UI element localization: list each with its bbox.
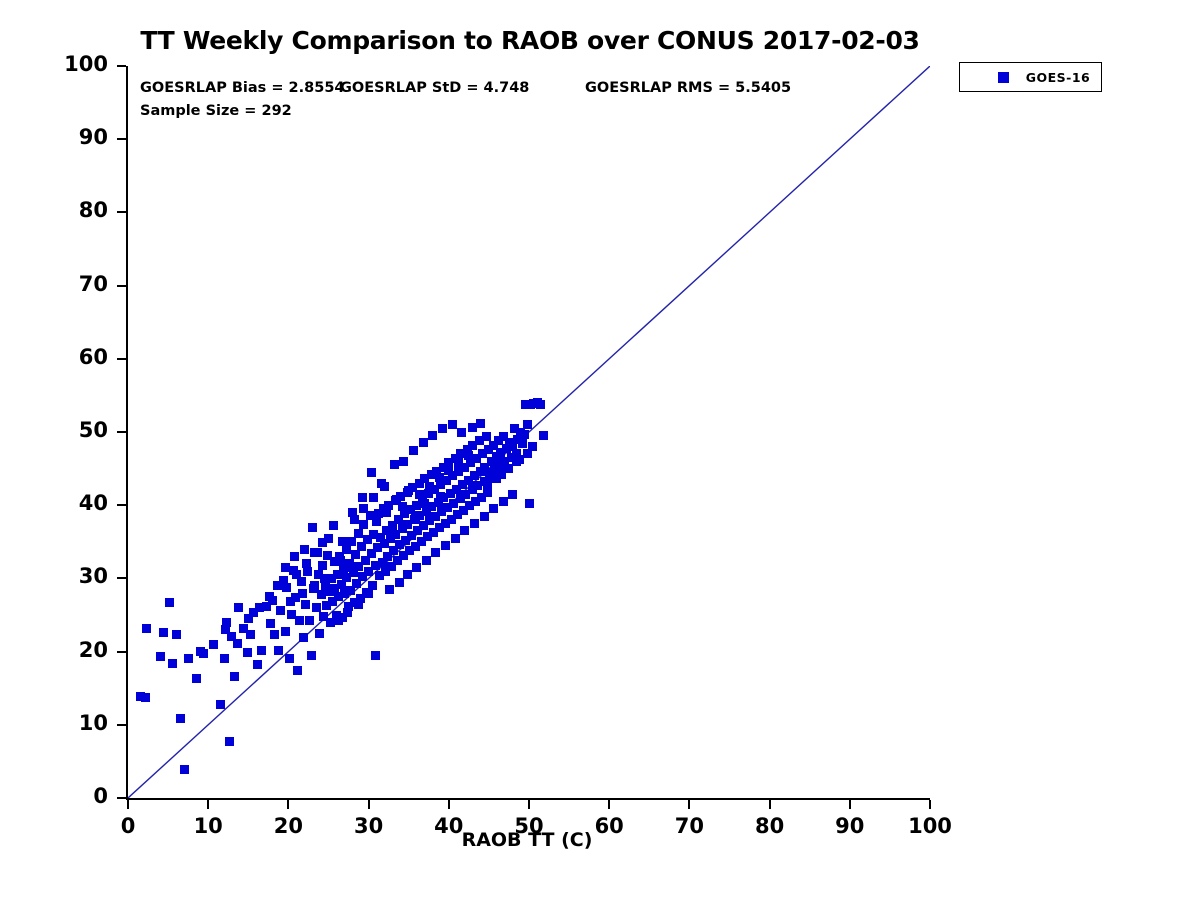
data-point bbox=[343, 608, 352, 617]
data-point bbox=[286, 597, 295, 606]
data-point bbox=[273, 581, 282, 590]
data-point bbox=[302, 559, 311, 568]
data-point bbox=[230, 672, 239, 681]
data-point bbox=[512, 457, 521, 466]
x-tick-mark bbox=[448, 800, 450, 809]
data-point bbox=[168, 659, 177, 668]
data-point bbox=[359, 520, 368, 529]
data-point bbox=[354, 529, 363, 538]
data-point bbox=[347, 537, 356, 546]
data-point bbox=[310, 581, 319, 590]
data-point bbox=[404, 486, 413, 495]
data-point bbox=[216, 700, 225, 709]
data-point bbox=[274, 646, 283, 655]
x-tick-mark bbox=[287, 800, 289, 809]
data-point bbox=[436, 492, 445, 501]
data-point bbox=[403, 570, 412, 579]
annotation-bias: GOESRLAP Bias = 2.8554 bbox=[140, 80, 345, 96]
y-tick-mark bbox=[117, 285, 126, 287]
y-tick-mark bbox=[117, 138, 126, 140]
data-point bbox=[359, 504, 368, 513]
data-point bbox=[457, 428, 466, 437]
data-point bbox=[431, 548, 440, 557]
y-tick-mark bbox=[117, 577, 126, 579]
data-point bbox=[483, 488, 492, 497]
data-point bbox=[409, 446, 418, 455]
data-point bbox=[508, 490, 517, 499]
data-point bbox=[257, 646, 266, 655]
data-point bbox=[398, 502, 407, 511]
data-point bbox=[176, 714, 185, 723]
data-point bbox=[266, 619, 275, 628]
y-tick-label: 90 bbox=[8, 125, 108, 149]
data-point bbox=[385, 585, 394, 594]
data-point bbox=[539, 431, 548, 440]
data-point bbox=[520, 430, 529, 439]
data-point bbox=[221, 625, 230, 634]
data-point bbox=[350, 515, 359, 524]
data-point bbox=[371, 651, 380, 660]
x-tick-mark bbox=[849, 800, 851, 809]
legend-label-goes-16: GOES-16 bbox=[1022, 70, 1094, 85]
data-point bbox=[454, 458, 463, 467]
data-point bbox=[329, 521, 338, 530]
data-point bbox=[380, 482, 389, 491]
data-point bbox=[460, 526, 469, 535]
annotation-sample-size: Sample Size = 292 bbox=[140, 103, 292, 119]
annotation-std: GOESRLAP StD = 4.748 bbox=[340, 80, 529, 96]
data-point bbox=[220, 654, 229, 663]
data-point bbox=[412, 563, 421, 572]
data-point bbox=[196, 647, 205, 656]
data-point bbox=[315, 629, 324, 638]
data-point bbox=[192, 674, 201, 683]
data-points-layer bbox=[128, 66, 930, 798]
x-tick-mark bbox=[769, 800, 771, 809]
data-point bbox=[320, 574, 329, 583]
data-point bbox=[180, 765, 189, 774]
y-tick-label: 10 bbox=[8, 711, 108, 735]
y-tick-mark bbox=[117, 724, 126, 726]
data-point bbox=[523, 420, 532, 429]
legend: GOES-16 bbox=[959, 62, 1102, 92]
y-tick-label: 40 bbox=[8, 491, 108, 515]
data-point bbox=[282, 583, 291, 592]
y-tick-label: 60 bbox=[8, 345, 108, 369]
data-point bbox=[448, 420, 457, 429]
data-point bbox=[441, 541, 450, 550]
scatter-plot-figure: TT Weekly Comparison to RAOB over CONUS … bbox=[0, 0, 1200, 900]
data-point bbox=[184, 654, 193, 663]
data-point bbox=[290, 552, 299, 561]
data-point bbox=[246, 630, 255, 639]
data-point bbox=[233, 639, 242, 648]
page-title: TT Weekly Comparison to RAOB over CONUS … bbox=[0, 26, 1060, 55]
data-point bbox=[334, 616, 343, 625]
data-point bbox=[165, 598, 174, 607]
data-point bbox=[422, 556, 431, 565]
data-point bbox=[281, 563, 290, 572]
data-point bbox=[492, 471, 501, 480]
data-point bbox=[438, 424, 447, 433]
data-point bbox=[444, 466, 453, 475]
y-tick-label: 20 bbox=[8, 638, 108, 662]
data-point bbox=[141, 693, 150, 702]
data-point bbox=[399, 457, 408, 466]
data-point bbox=[351, 550, 360, 559]
data-point bbox=[411, 512, 420, 521]
data-point bbox=[390, 460, 399, 469]
data-point bbox=[318, 561, 327, 570]
data-point bbox=[382, 508, 391, 517]
data-point bbox=[285, 654, 294, 663]
y-tick-label: 50 bbox=[8, 418, 108, 442]
x-tick-mark bbox=[608, 800, 610, 809]
x-tick-mark bbox=[929, 800, 931, 809]
data-point bbox=[483, 479, 492, 488]
data-point bbox=[324, 534, 333, 543]
data-point bbox=[293, 666, 302, 675]
data-point bbox=[312, 603, 321, 612]
x-tick-mark bbox=[528, 800, 530, 809]
y-tick-label: 80 bbox=[8, 198, 108, 222]
data-point bbox=[234, 603, 243, 612]
data-point bbox=[415, 490, 424, 499]
x-tick-mark bbox=[368, 800, 370, 809]
data-point bbox=[307, 651, 316, 660]
data-point bbox=[244, 614, 253, 623]
data-point bbox=[305, 616, 314, 625]
data-point bbox=[338, 537, 347, 546]
y-tick-label: 100 bbox=[8, 52, 108, 76]
data-point bbox=[253, 660, 262, 669]
data-point bbox=[420, 499, 429, 508]
y-tick-mark bbox=[117, 65, 126, 67]
data-point bbox=[354, 600, 363, 609]
data-point bbox=[308, 523, 317, 532]
data-point bbox=[295, 616, 304, 625]
data-point bbox=[300, 545, 309, 554]
data-point bbox=[372, 517, 381, 526]
data-point bbox=[428, 431, 437, 440]
data-point bbox=[281, 627, 290, 636]
data-point bbox=[435, 473, 444, 482]
data-point bbox=[369, 493, 378, 502]
data-point bbox=[276, 606, 285, 615]
data-point bbox=[298, 589, 307, 598]
data-point bbox=[525, 499, 534, 508]
x-tick-mark bbox=[688, 800, 690, 809]
data-point bbox=[299, 633, 308, 642]
y-tick-mark bbox=[117, 651, 126, 653]
data-point bbox=[270, 630, 279, 639]
x-tick-mark bbox=[127, 800, 129, 809]
data-point bbox=[464, 451, 473, 460]
data-point bbox=[156, 652, 165, 661]
y-tick-label: 30 bbox=[8, 564, 108, 588]
data-point bbox=[470, 519, 479, 528]
data-point bbox=[346, 563, 355, 572]
data-point bbox=[358, 493, 367, 502]
data-point bbox=[536, 400, 545, 409]
y-tick-mark bbox=[117, 211, 126, 213]
data-point bbox=[159, 628, 168, 637]
data-point bbox=[301, 600, 310, 609]
data-point bbox=[502, 464, 511, 473]
y-tick-mark bbox=[117, 504, 126, 506]
data-point bbox=[313, 548, 322, 557]
data-point bbox=[499, 497, 508, 506]
data-point bbox=[268, 596, 277, 605]
data-point bbox=[419, 438, 428, 447]
y-tick-mark bbox=[117, 358, 126, 360]
data-point bbox=[336, 556, 345, 565]
plot-area: 0102030405060708090100 01020304050607080… bbox=[126, 66, 930, 800]
data-point bbox=[451, 534, 460, 543]
data-point bbox=[225, 737, 234, 746]
y-tick-mark bbox=[117, 797, 126, 799]
data-point bbox=[364, 589, 373, 598]
data-point bbox=[425, 482, 434, 491]
data-point bbox=[489, 504, 498, 513]
data-point bbox=[142, 624, 151, 633]
data-point bbox=[292, 570, 301, 579]
x-axis-label: RAOB TT (C) bbox=[126, 829, 928, 851]
legend-swatch-goes-16 bbox=[998, 72, 1009, 83]
data-point bbox=[482, 432, 491, 441]
annotation-rms: GOESRLAP RMS = 5.5405 bbox=[585, 80, 791, 96]
data-point bbox=[255, 603, 264, 612]
data-point bbox=[518, 439, 527, 448]
data-point bbox=[367, 468, 376, 477]
x-tick-mark bbox=[207, 800, 209, 809]
data-point bbox=[243, 648, 252, 657]
data-point bbox=[209, 640, 218, 649]
y-tick-label: 0 bbox=[8, 784, 108, 808]
y-tick-mark bbox=[117, 431, 126, 433]
data-point bbox=[172, 630, 181, 639]
data-point bbox=[476, 419, 485, 428]
y-tick-label: 70 bbox=[8, 272, 108, 296]
data-point bbox=[528, 442, 537, 451]
data-point bbox=[480, 512, 489, 521]
